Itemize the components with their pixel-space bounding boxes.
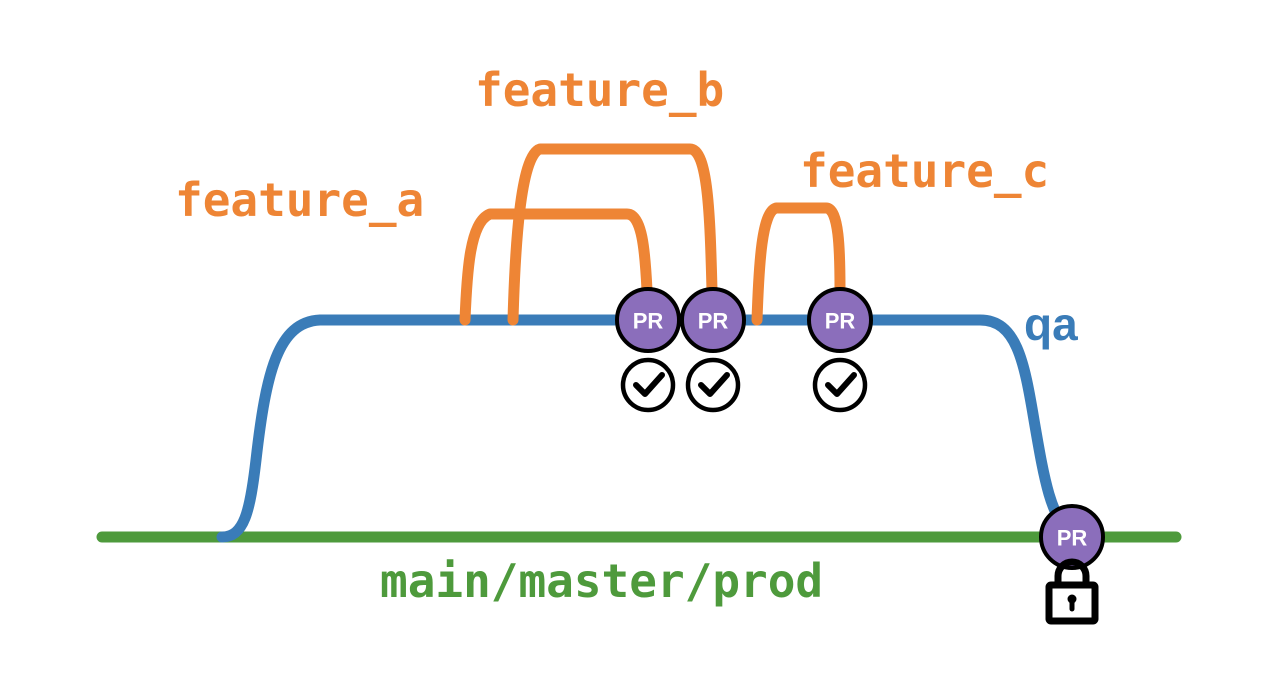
branch-label-feature-b: feature_b xyxy=(475,63,724,117)
pr-node-feature-c[interactable]: PR xyxy=(809,289,871,351)
diagram-canvas: feature_a feature_b feature_c qa main/ma… xyxy=(0,0,1288,678)
git-branch-diagram: feature_a feature_b feature_c qa main/ma… xyxy=(0,0,1288,678)
pr-node-label: PR xyxy=(633,309,664,334)
check-icon[interactable] xyxy=(815,360,865,410)
status-badge-approved-feature-a[interactable] xyxy=(623,360,673,410)
check-icon[interactable] xyxy=(688,360,738,410)
branch-label-main: main/master/prod xyxy=(380,554,823,608)
pr-node-label: PR xyxy=(698,309,729,334)
status-badge-approved-feature-b[interactable] xyxy=(688,360,738,410)
status-badge-protected-qa-to-main[interactable] xyxy=(1049,562,1095,621)
branch-label-feature-a: feature_a xyxy=(175,173,424,227)
branch-line-feature-b xyxy=(513,149,712,320)
pr-node-feature-b[interactable]: PR xyxy=(682,289,744,351)
status-badge-approved-feature-c[interactable] xyxy=(815,360,865,410)
check-icon[interactable] xyxy=(623,360,673,410)
pr-node-label: PR xyxy=(825,309,856,334)
branch-label-qa: qa xyxy=(1024,298,1078,350)
branch-label-feature-c: feature_c xyxy=(800,144,1049,198)
pr-node-feature-a[interactable]: PR xyxy=(617,289,679,351)
pr-node-label: PR xyxy=(1057,526,1088,551)
